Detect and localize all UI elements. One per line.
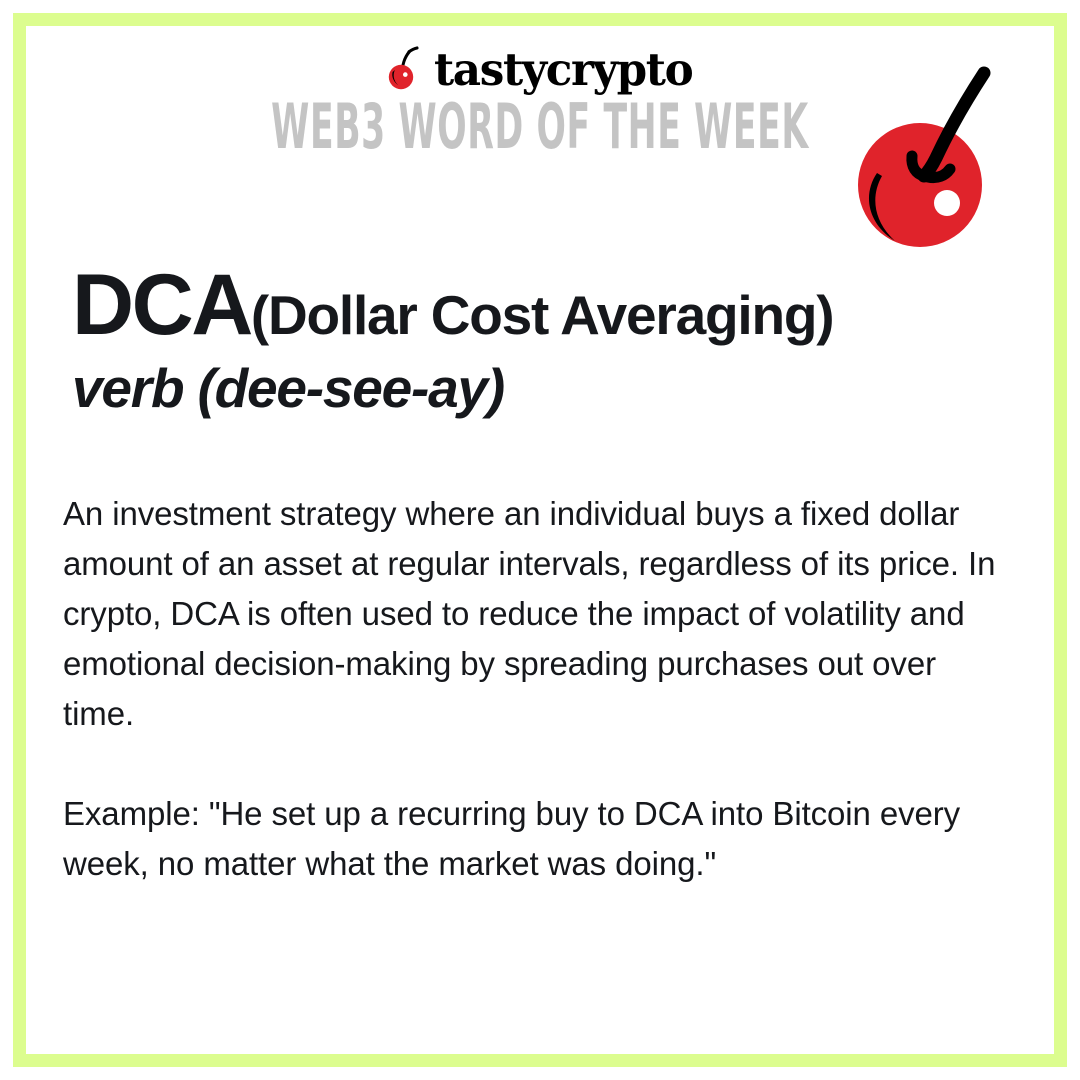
term-line: DCA(Dollar Cost Averaging) [72, 262, 1012, 348]
cherry-icon [836, 42, 1051, 257]
kicker-title: WEB3 WORD OF THE WEEK [205, 96, 875, 158]
brand-wordmark: tastycrypto [434, 47, 692, 92]
entry-heading: DCA(Dollar Cost Averaging) verb (dee-see… [72, 262, 1012, 418]
term: DCA [72, 257, 251, 353]
pronunciation-line: verb (dee-see-ay) [72, 360, 1012, 418]
cherry-icon [384, 46, 424, 90]
definition-paragraph: An investment strategy where an individu… [63, 489, 1003, 739]
definition-body: An investment strategy where an individu… [63, 489, 1003, 889]
example-paragraph: Example: "He set up a recurring buy to D… [63, 789, 1003, 889]
word-of-the-week-card: tastycrypto WEB3 WORD OF THE WEEK DCA(Do… [0, 0, 1080, 1080]
term-expansion: (Dollar Cost Averaging) [251, 284, 834, 346]
